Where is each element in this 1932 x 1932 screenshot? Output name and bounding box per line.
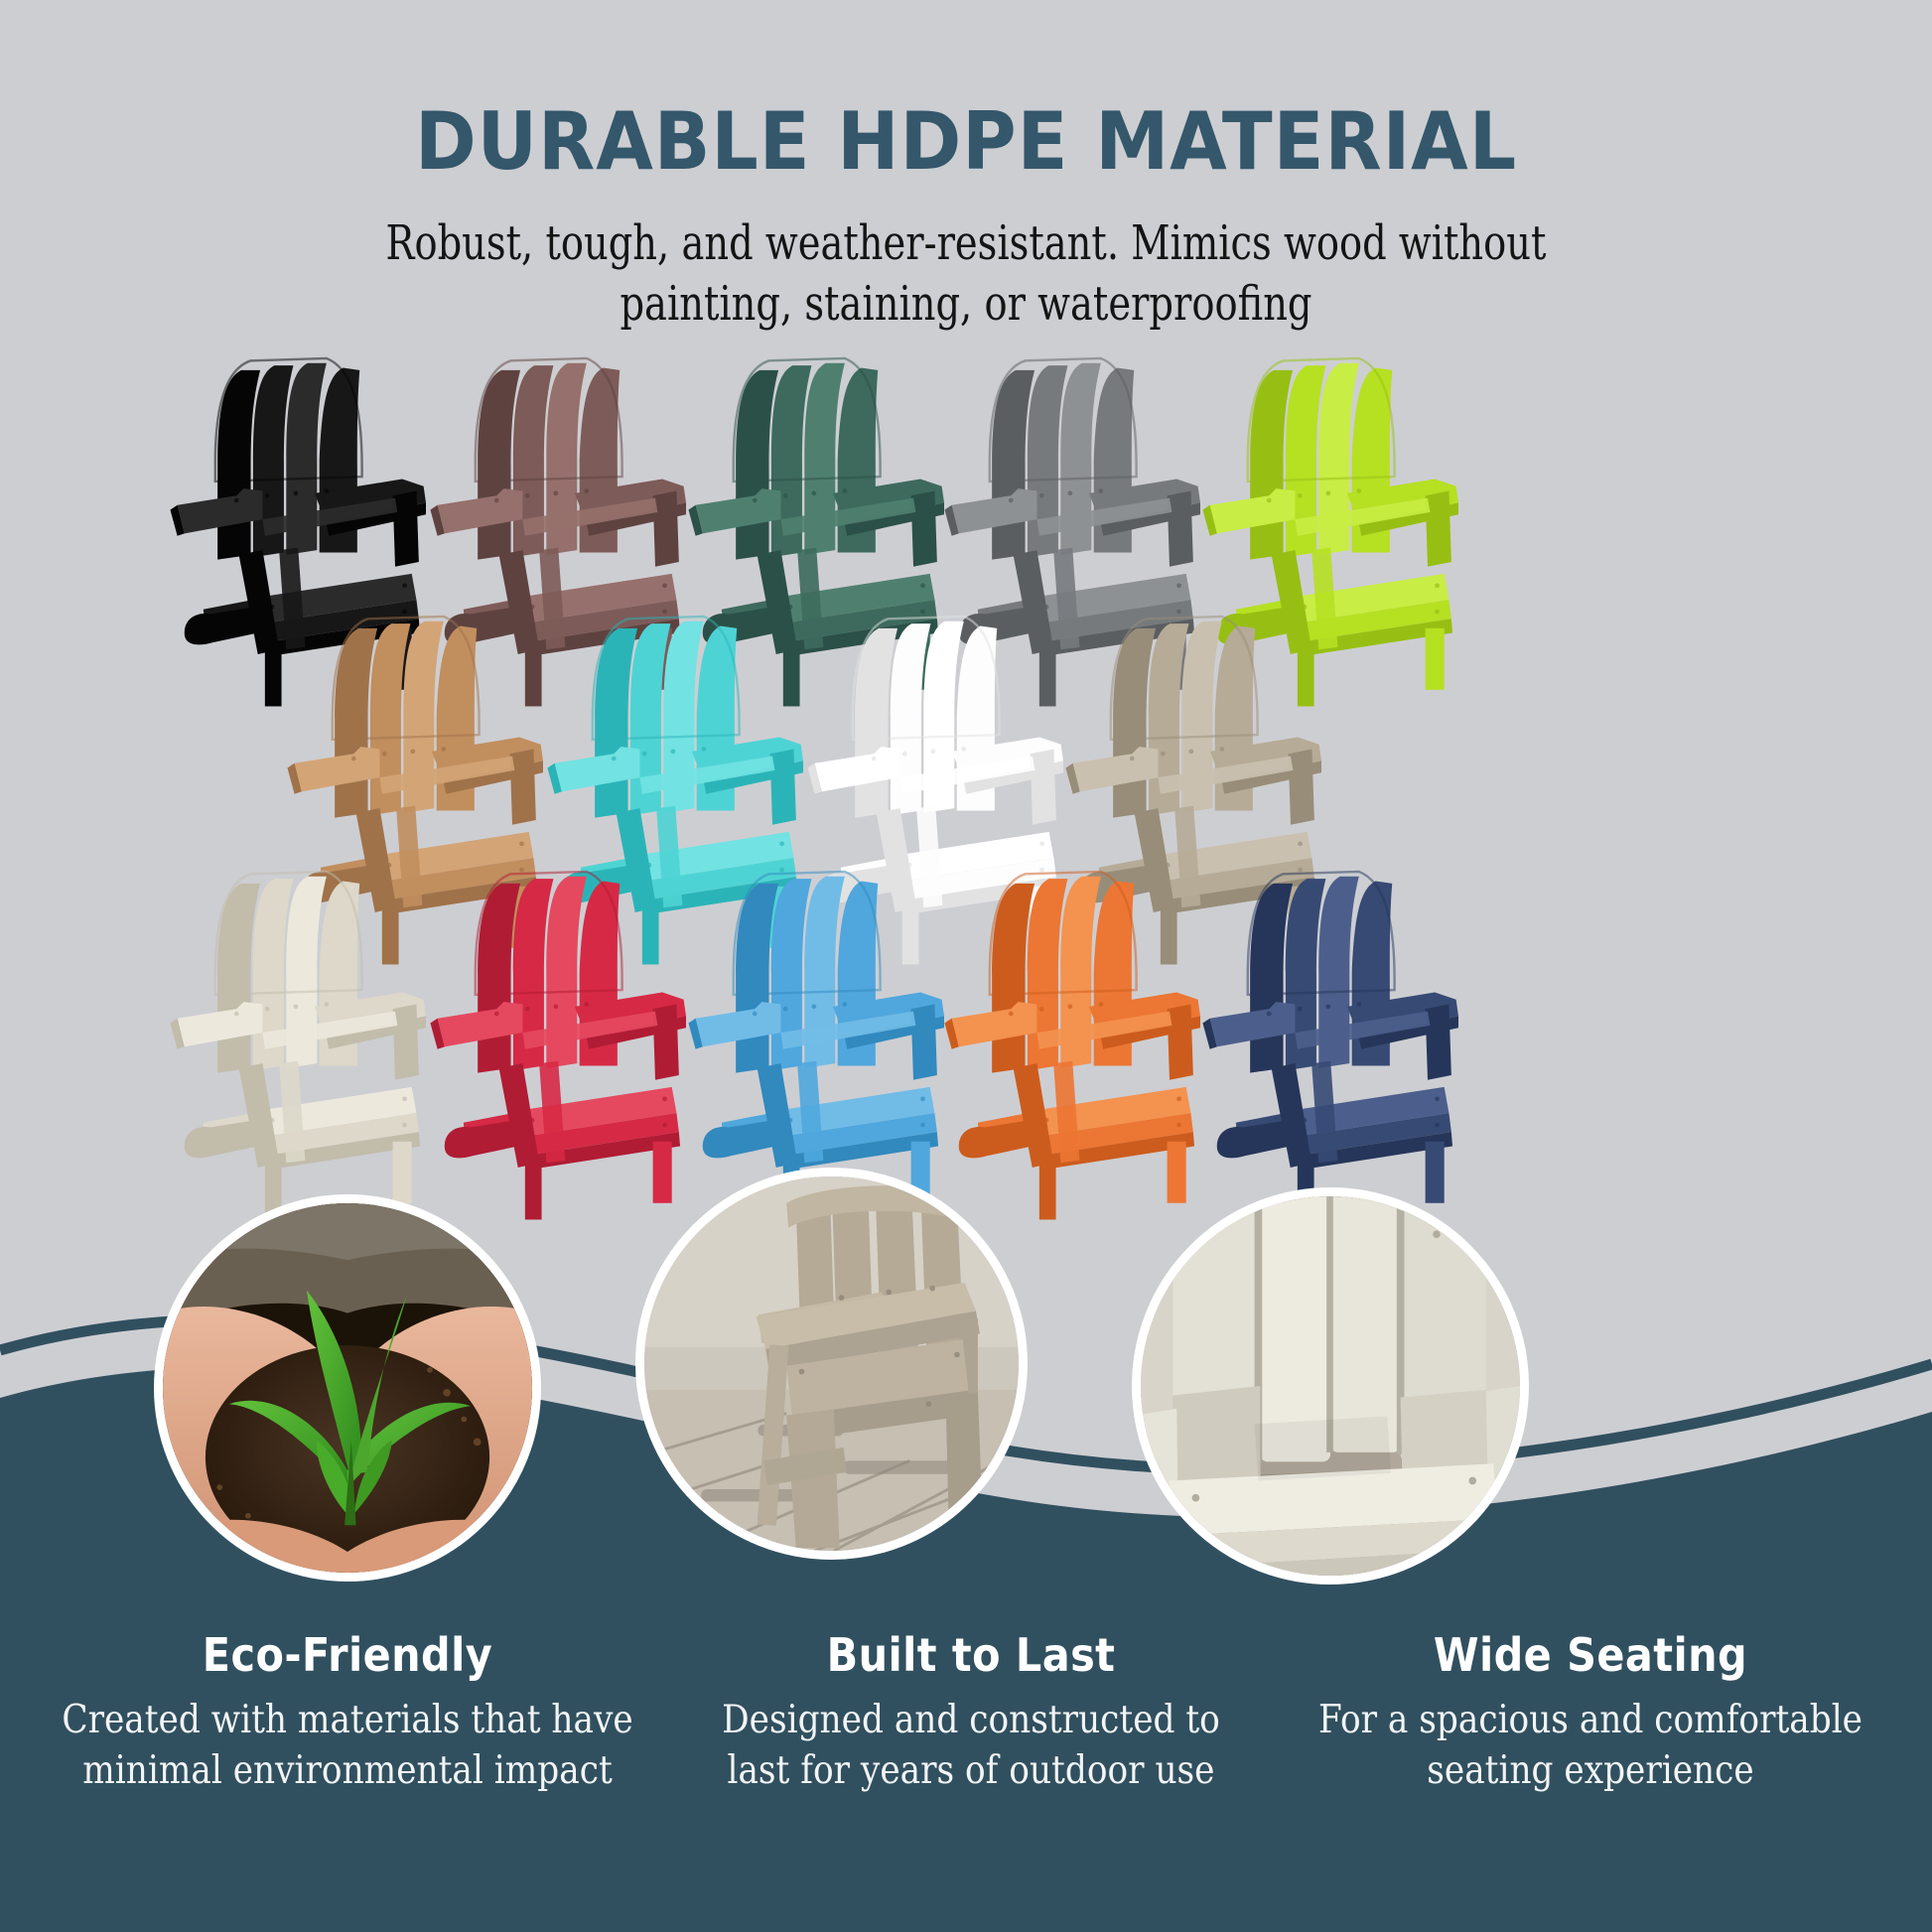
feature-description: Created with materials that have minimal… (60, 1696, 636, 1796)
wide-seat-closeup-photo (1141, 1196, 1520, 1576)
chair-swatch-navy-blue[interactable] (1181, 866, 1489, 1223)
feature-desc-line-2: minimal environmental impact (82, 1748, 613, 1793)
feature-circle-wide-seating (1132, 1187, 1529, 1585)
feature-circle-built-to-last (635, 1168, 1028, 1560)
hands-holding-seedling-photo (163, 1203, 532, 1573)
feature-desc-line-1: Created with materials that have (62, 1698, 632, 1742)
feature-desc-line-2: seating experience (1427, 1748, 1753, 1793)
feature-title: Eco-Friendly (53, 1628, 642, 1682)
taupe-adirondack-chair-on-patio-photo (644, 1176, 1019, 1551)
feature-circle-eco-friendly (154, 1194, 541, 1582)
feature-title: Wide Seating (1296, 1628, 1885, 1682)
feature-desc-line-1: For a spacious and comfortable (1318, 1698, 1863, 1742)
feature-description: For a spacious and comfortable seating e… (1303, 1696, 1879, 1796)
feature-text-wide-seating: Wide Seating For a spacious and comforta… (1263, 1628, 1918, 1796)
feature-text-built-to-last: Built to Last Designed and constructed t… (643, 1628, 1299, 1796)
feature-desc-line-1: Designed and constructed to (722, 1698, 1220, 1742)
feature-text-eco-friendly: Eco-Friendly Created with materials that… (20, 1628, 675, 1796)
infographic-canvas: DURABLE HDPE MATERIAL Robust, tough, and… (0, 0, 1932, 1932)
feature-desc-line-2: last for years of outdoor use (727, 1748, 1214, 1793)
feature-description: Designed and constructed to last for yea… (683, 1696, 1260, 1796)
feature-title: Built to Last (676, 1628, 1266, 1682)
